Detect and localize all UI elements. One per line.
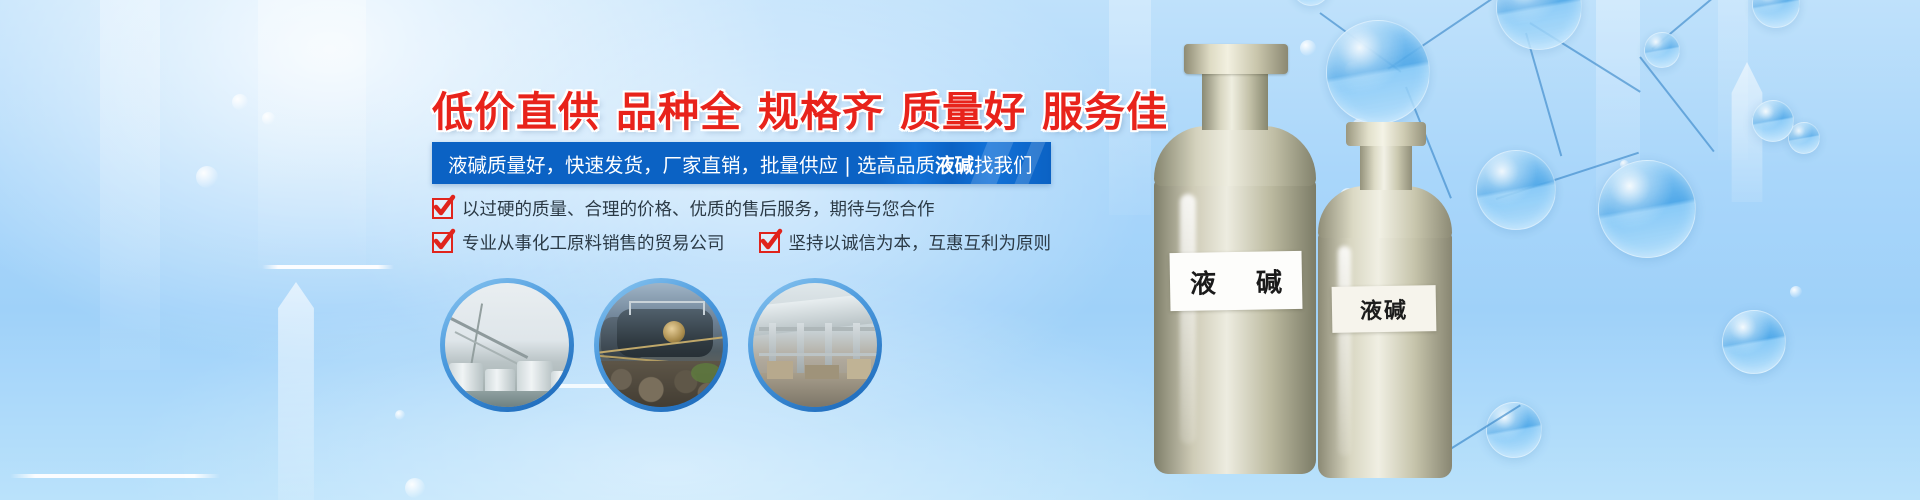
headline-part-1: 低价直供	[432, 88, 600, 136]
bottle-stopper	[1184, 44, 1288, 74]
bottle-neck	[1202, 72, 1268, 130]
bullet-text: 专业从事化工原料销售的贸易公司	[462, 230, 725, 255]
bullet-row: 以过硬的质量、合理的价格、优质的售后服务，期待与您合作	[432, 196, 1051, 221]
subtitle-lead: 液碱质量好，快速发货，厂家直销，批量供应 | 选高品质	[448, 149, 935, 178]
bullet-item: 专业从事化工原料销售的贸易公司	[432, 230, 725, 255]
banner-content: 低价直供品种全规格齐质量好服务佳 液碱质量好，快速发货，厂家直销，批量供应 | …	[0, 0, 1920, 500]
chemical-tanker-photo[interactable]	[594, 278, 728, 412]
bottle-label-char-1: 液	[1190, 263, 1217, 300]
bullet-item: 以过硬的质量、合理的价格、优质的售后服务，期待与您合作	[432, 196, 935, 221]
bottle-stopper	[1346, 122, 1426, 146]
photo-image	[753, 283, 877, 407]
small-reagent-bottle: 液碱	[1310, 122, 1460, 478]
bottle-label: 液 碱	[1170, 251, 1303, 311]
bottle-neck	[1360, 144, 1412, 190]
check-icon	[432, 232, 453, 253]
product-bottles: 液 碱 液碱	[1120, 26, 1600, 500]
headline-part-2: 品种全	[616, 88, 742, 136]
bottle-label-char-2: 碱	[1256, 262, 1283, 299]
bottle-label-text: 液碱	[1360, 293, 1409, 326]
bottle-highlight	[1180, 194, 1196, 444]
storage-tank-farm-photo[interactable]	[440, 278, 574, 412]
bullet-row: 专业从事化工原料销售的贸易公司 坚持以诚信为本，互惠互利为原则	[432, 230, 1051, 255]
subtitle-emphasis: 液碱	[935, 149, 974, 178]
bullet-item: 坚持以诚信为本，互惠互利为原则	[759, 230, 1052, 255]
feature-bullets: 以过硬的质量、合理的价格、优质的售后服务，期待与您合作 专业从事化工原料销售的贸…	[432, 196, 1051, 264]
large-reagent-bottle: 液 碱	[1140, 44, 1330, 474]
bottle-label: 液碱	[1332, 285, 1437, 333]
plant-warehouse-photo[interactable]	[748, 278, 882, 412]
subtitle-bar: 液碱质量好，快速发货，厂家直销，批量供应 | 选高品质液碱找我们	[432, 142, 1051, 184]
headline: 低价直供品种全规格齐质量好服务佳	[432, 78, 1168, 138]
bottle-shoulder	[1154, 126, 1316, 186]
headline-part-3: 规格齐	[758, 88, 884, 136]
headline-part-4: 质量好	[900, 88, 1026, 136]
bullet-text: 坚持以诚信为本，互惠互利为原则	[789, 230, 1052, 255]
photo-image	[599, 283, 723, 407]
bullet-text: 以过硬的质量、合理的价格、优质的售后服务，期待与您合作	[462, 196, 935, 221]
bottle-body	[1154, 178, 1316, 474]
bottle-highlight	[1338, 246, 1351, 456]
check-icon	[432, 198, 453, 219]
bottle-shoulder	[1318, 186, 1452, 238]
photo-gallery	[440, 278, 882, 412]
promo-banner: 低价直供品种全规格齐质量好服务佳 液碱质量好，快速发货，厂家直销，批量供应 | …	[0, 0, 1920, 500]
check-icon	[759, 232, 780, 253]
photo-image	[445, 283, 569, 407]
